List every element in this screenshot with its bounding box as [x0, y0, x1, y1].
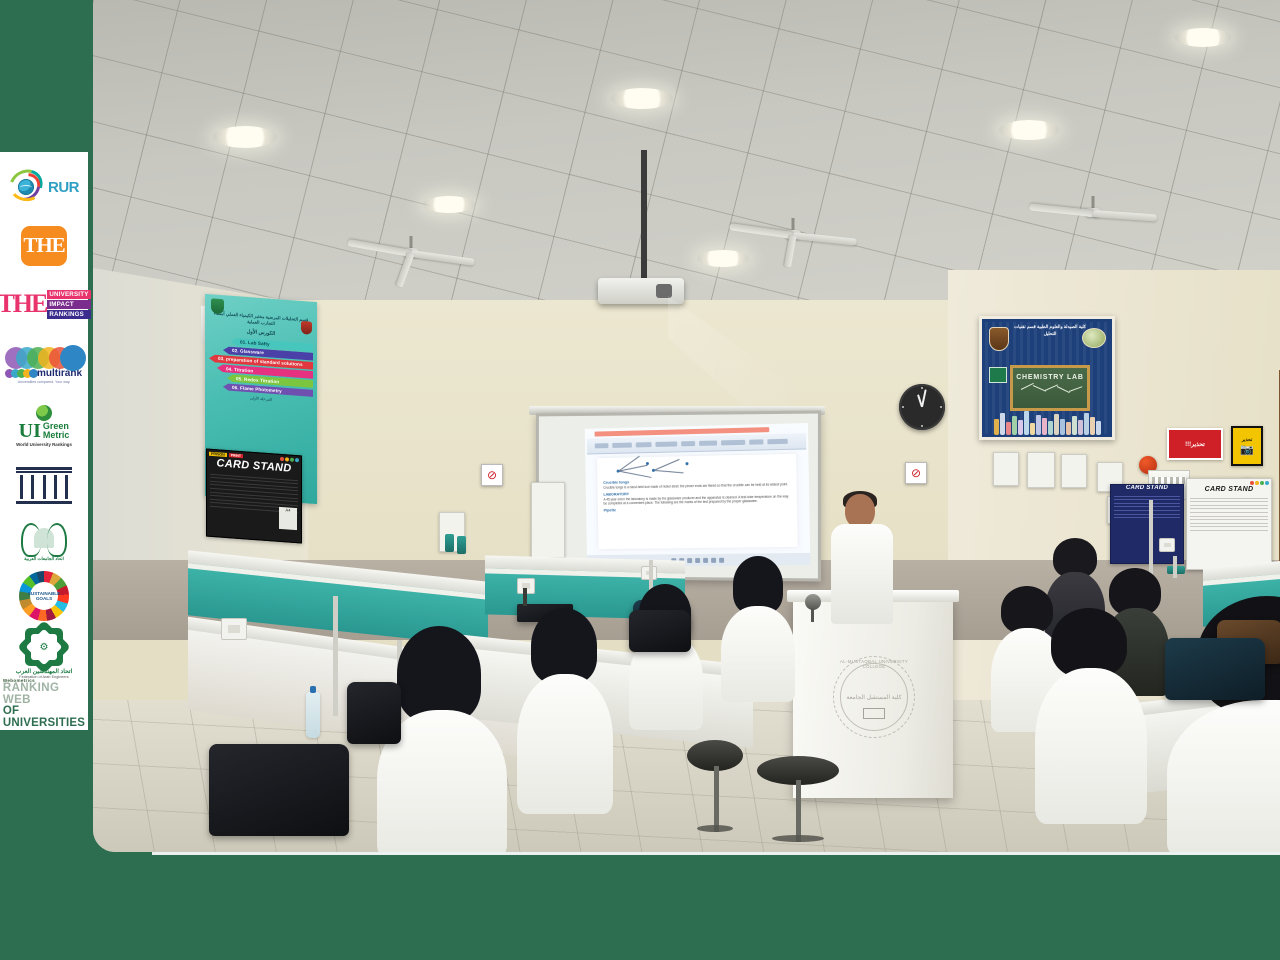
presenter-lab-coat	[831, 524, 893, 624]
the-impact-rankings-logo: THE UNIVERSITY IMPACT RANKINGS	[5, 275, 83, 333]
poster-glassware-row	[985, 405, 1109, 435]
impact-line-1: UNIVERSITY	[47, 290, 90, 299]
multirank-rings-icon	[5, 345, 83, 371]
qs-temple-logo	[5, 456, 83, 514]
webometrics-line-3: OF UNIVERSITIES	[3, 706, 85, 729]
green-globe-icon	[36, 405, 52, 421]
presenter-head	[845, 494, 875, 528]
lab-stool	[687, 740, 743, 832]
slide-heading-3: Pipette	[604, 505, 791, 512]
sdg-color-wheel-icon: SUSTAINABLE GOALS	[19, 571, 69, 621]
monitor-arm	[523, 588, 527, 606]
ui-greenmetric-logo: UI Green Metric World University Ranking…	[5, 396, 83, 456]
student-lab-coat	[517, 674, 613, 814]
experiment-list: 01. Lab Safty 02. Glassware 03. preparat…	[209, 336, 313, 397]
banner-crest-right-icon	[301, 321, 312, 335]
multirank-tagline: Universities compared. Your way.	[5, 380, 83, 384]
ui-wordmark: UI	[19, 422, 41, 440]
slide-diagram	[603, 459, 791, 479]
eight-point-star-icon: ⚙	[25, 628, 63, 666]
footer-bar: WWW.UOMUS.EDU.IQ 6163 الأولــــى على الج…	[0, 852, 1280, 960]
info-poster-blue-right: CARD STAND	[1110, 484, 1184, 564]
poster-seal-icon	[989, 367, 1007, 383]
lab-sink-tap[interactable]	[1173, 556, 1177, 578]
molecule-doodle-icon	[1013, 383, 1087, 399]
poster-seal-icon	[989, 327, 1009, 351]
projected-slide: Crucible tongs Crucible tongs is a hand-…	[585, 423, 811, 567]
rur-arc-icon	[9, 170, 47, 204]
chem-poster-header: كلية الصيدلة والعلوم الطبية قسم تقنيات ا…	[1012, 324, 1088, 337]
notice-paper	[531, 482, 565, 558]
presenter	[831, 494, 893, 624]
ceiling-light	[423, 196, 475, 213]
webometrics-line-2: RANKING WEB	[3, 683, 85, 706]
notice-poster	[993, 452, 1019, 486]
emblem-text-en: AL-MUSTAQBAL UNIVERSITY COLLEGE	[834, 659, 914, 669]
ceiling-light	[611, 88, 673, 109]
student	[629, 584, 703, 724]
gas-valve[interactable]	[445, 534, 454, 552]
cctv-sign-yellow: تحذير 📷	[1231, 426, 1263, 466]
footer-divider	[152, 852, 1280, 855]
ceiling-light	[1175, 28, 1231, 47]
rur-logo: RUR	[5, 158, 83, 216]
federation-arab-engineers-logo: ⚙ اتحاد المهندسين العرب Federation of Ar…	[5, 624, 83, 684]
rur-wordmark: RUR	[48, 179, 79, 196]
power-socket[interactable]	[221, 618, 247, 640]
the-logo: THE	[5, 216, 83, 274]
sdg-wheel-logo: SUSTAINABLE GOALS	[5, 569, 83, 624]
the-wordmark: THE	[23, 233, 64, 258]
student-hijab	[397, 626, 481, 722]
webometrics-logo: Webometrics RANKING WEB OF UNIVERSITIES	[5, 684, 83, 724]
chemistry-lab-title: CHEMISTRY LAB	[1013, 374, 1087, 381]
poster-title: CARD STAND	[1187, 486, 1271, 493]
water-bottle	[306, 692, 320, 738]
card-stand-poster-right: CARD STAND	[1186, 478, 1272, 570]
greenmetric-line-2: Metric	[43, 431, 70, 440]
microphone	[805, 594, 821, 610]
university-emblem: AL-MUSTAQBAL UNIVERSITY COLLEGE كلية الم…	[833, 656, 915, 738]
lab-stool	[757, 756, 839, 842]
ceiling-light	[999, 120, 1059, 140]
wall-clock	[899, 384, 945, 430]
event-photograph: قسم التحليلات المرضية مختبر الكيمياء الع…	[93, 0, 1280, 852]
notice-poster	[1061, 454, 1087, 488]
student	[517, 608, 613, 808]
backpack	[347, 682, 401, 744]
poster-size-label: A4	[279, 507, 297, 530]
rankings-logo-panel: RUR THE THE UNIVERSITY IMPACT RANKINGS	[0, 152, 88, 730]
student-lab-coat	[1167, 700, 1280, 852]
poster-icons	[1250, 481, 1269, 485]
association-arab-universities-logo: اتحاد الجامعات العربية	[5, 514, 83, 569]
umultirank-logo: multirank Universities compared. Your wa…	[5, 333, 83, 395]
no-entry-sign: ⊘	[481, 464, 503, 486]
impact-line-2: IMPACT	[47, 300, 90, 309]
open-book-icon	[863, 708, 885, 719]
student-lab-coat	[1035, 668, 1147, 824]
power-socket[interactable]	[1159, 538, 1175, 552]
backpack	[629, 610, 691, 652]
slide-paragraph-2: A 45 year old in the laboratory is made …	[603, 494, 790, 506]
notice-poster	[1027, 452, 1055, 488]
the-impact-wordmark: THE	[0, 291, 46, 317]
left-rail: RUR THE THE UNIVERSITY IMPACT RANKINGS	[0, 0, 93, 860]
lab-pipe	[333, 596, 338, 716]
gas-valve[interactable]	[457, 536, 466, 554]
temple-columns-icon	[16, 467, 72, 504]
backpack	[1165, 638, 1265, 700]
student	[721, 556, 795, 696]
slide-document: Crucible tongs Crucible tongs is a hand-…	[597, 454, 798, 549]
student-lab-coat	[721, 606, 795, 702]
card-stand-poster-left: PRISON PRINT CARD STAND A4	[206, 448, 302, 543]
projector-mount	[641, 150, 647, 280]
ceiling-light	[213, 126, 277, 148]
no-smoking-sign: ⊘	[905, 462, 927, 484]
greenmetric-tagline: World University Rankings	[5, 442, 83, 447]
student	[1035, 608, 1147, 818]
impact-line-3: RANKINGS	[47, 310, 90, 319]
sdg-hub-label: SUSTAINABLE GOALS	[30, 582, 58, 610]
chemistry-lab-poster: كلية الصيدلة والعلوم الطبية قسم تقنيات ا…	[979, 316, 1115, 440]
arab-universities-caption: اتحاد الجامعات العربية	[9, 556, 79, 562]
backpack	[209, 744, 349, 836]
banner-crest-left-icon	[211, 298, 224, 314]
ceiling-light	[697, 250, 749, 267]
application-ribbon	[587, 433, 806, 454]
wreath-icon	[21, 521, 67, 555]
student-hijab	[531, 608, 597, 684]
warning-sign-red: تحذير!!!	[1167, 428, 1223, 460]
